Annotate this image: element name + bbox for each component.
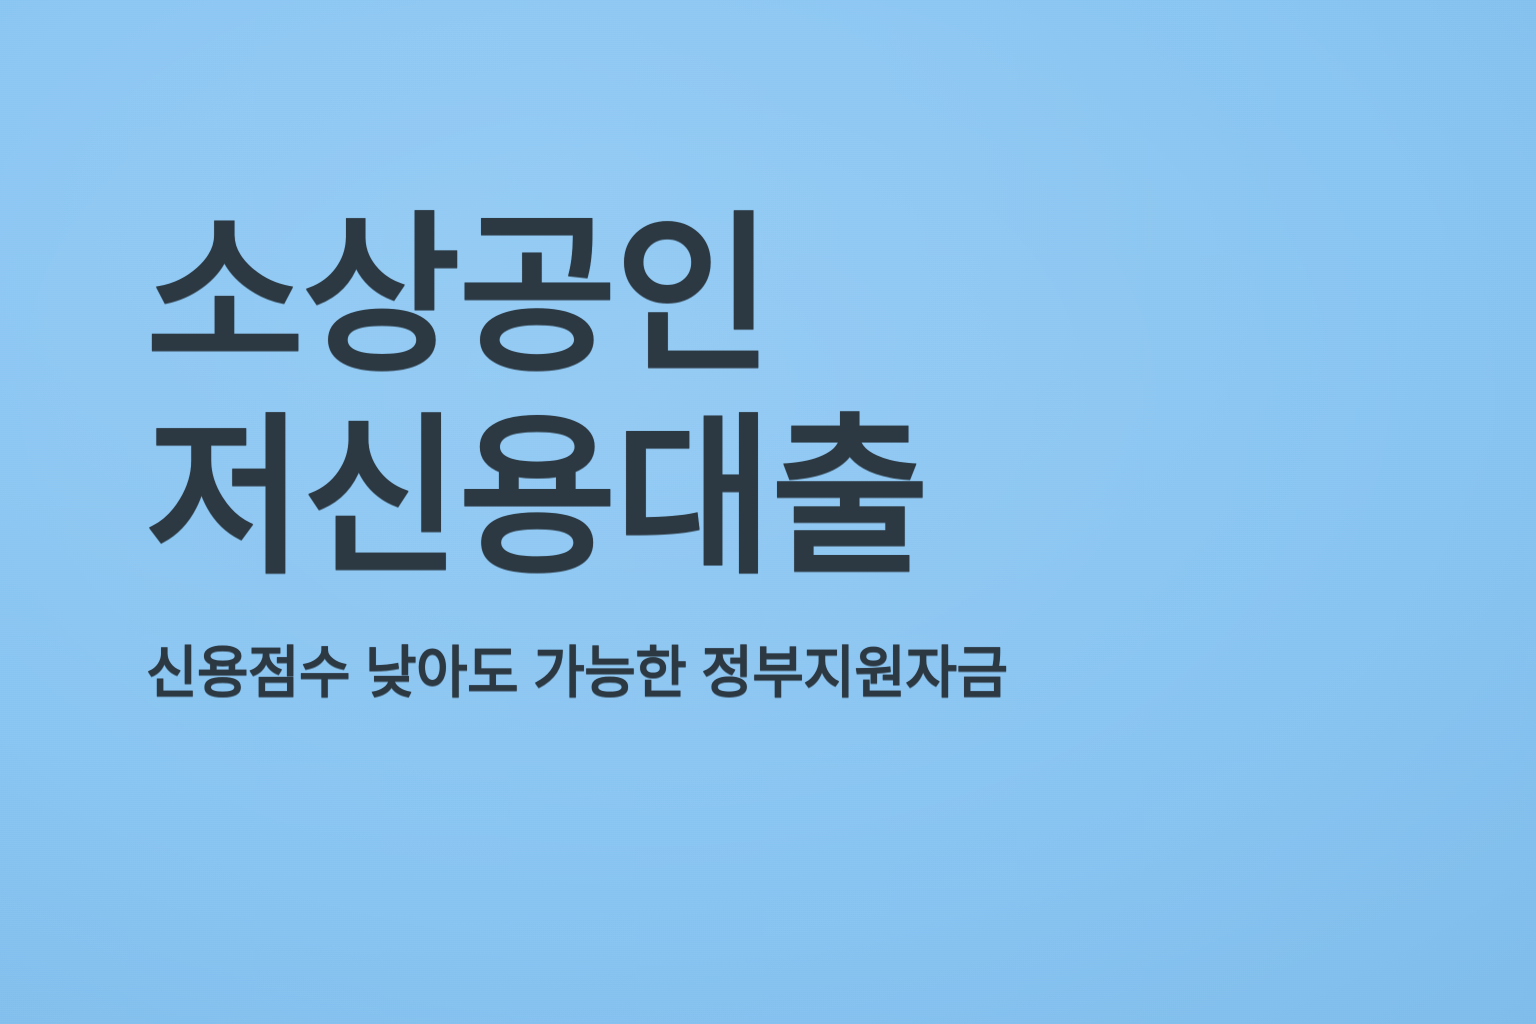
poster-canvas: 소상공인 저신용대출 신용점수 낮아도 가능한 정부지원자금 [0, 0, 1536, 1024]
poster-text-block: 소상공인 저신용대출 신용점수 낮아도 가능한 정부지원자금 [146, 214, 1386, 703]
headline-line-1: 소상공인 [146, 214, 1386, 380]
poster-subheadline: 신용점수 낮아도 가능한 정부지원자금 [146, 644, 1386, 703]
poster-headline: 소상공인 저신용대출 [146, 214, 1386, 582]
headline-line-2: 저신용대출 [146, 416, 1386, 582]
